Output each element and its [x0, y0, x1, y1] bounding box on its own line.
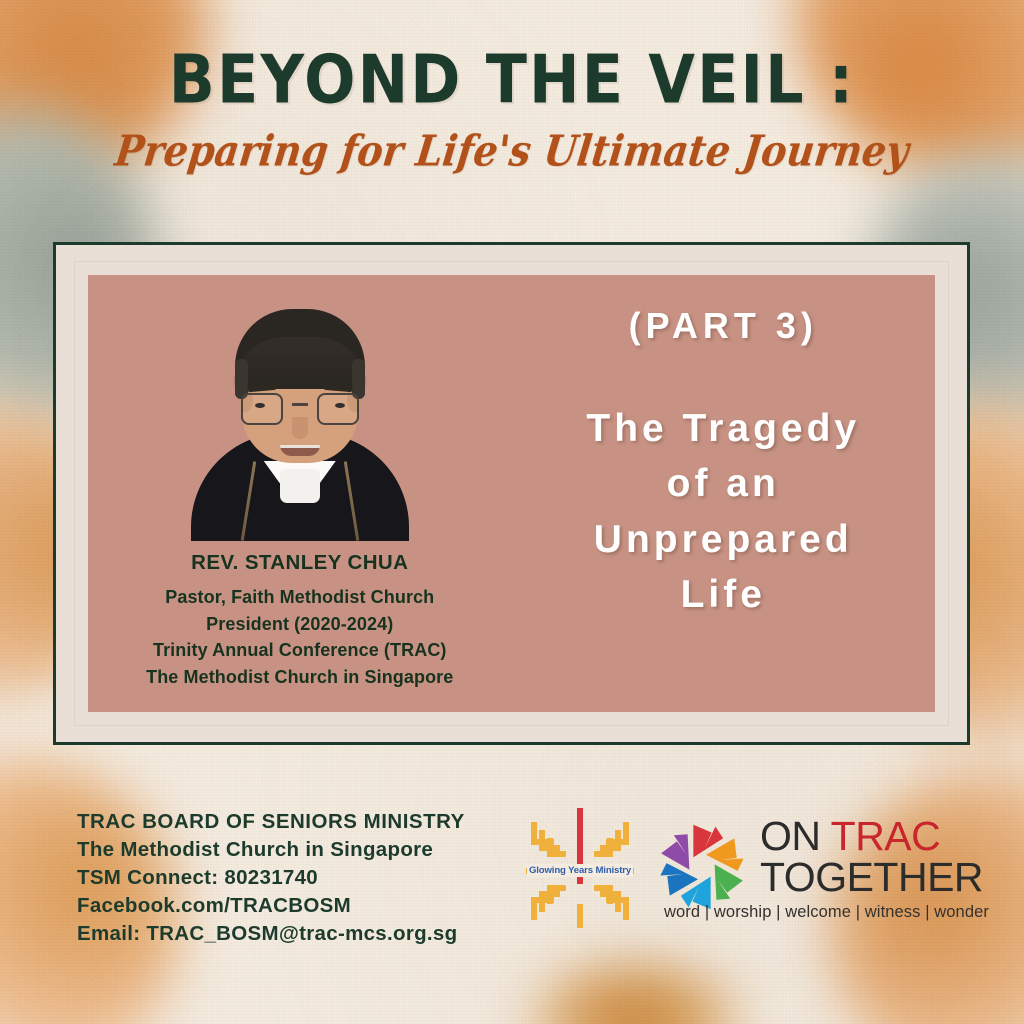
page-title: BEYOND THE VEIL :	[0, 47, 1024, 114]
contact-facebook: Facebook.com/TRACBOSM	[77, 892, 465, 920]
portrait-clerical-collar	[280, 469, 320, 503]
credential-line: The Methodist Church in Singapore	[146, 664, 453, 691]
speaker-block: REV. STANLEY CHUA Pastor, Faith Methodis…	[88, 275, 512, 712]
speaker-credentials: Pastor, Faith Methodist Church President…	[146, 584, 453, 691]
poster-canvas: BEYOND THE VEIL : Preparing for Life's U…	[0, 0, 1024, 1024]
on-trac-wordmark: ON TRAC TOGETHER word | worship | welcom…	[760, 817, 989, 921]
page-subtitle: Preparing for Life's Ultimate Journey	[0, 125, 1024, 175]
logo-row: Glowing Years Ministry	[520, 800, 989, 933]
portrait-mouth	[280, 445, 320, 456]
topic-block: (PART 3) The Tragedy of an Unprepared Li…	[512, 275, 936, 712]
on-word: ON	[760, 813, 831, 859]
portrait-nose	[292, 417, 308, 439]
contact-denomination: The Methodist Church in Singapore	[77, 836, 465, 864]
portrait-eyeglass-bridge	[292, 403, 308, 406]
contact-email: Email: TRAC_BOSM@trac-mcs.org.sg	[77, 920, 465, 948]
contact-organisation: TRAC BOARD OF SENIORS MINISTRY	[77, 808, 465, 836]
session-card: REV. STANLEY CHUA Pastor, Faith Methodis…	[53, 242, 970, 745]
pinwheel-flower-icon	[654, 819, 750, 915]
topic-title: The Tragedy of an Unprepared Life	[586, 401, 860, 623]
glowing-years-label-band: Glowing Years Ministry	[514, 860, 646, 878]
credential-line: Pastor, Faith Methodist Church	[146, 584, 453, 611]
topic-title-line: of an	[586, 456, 860, 511]
on-trac-together-logo: ON TRAC TOGETHER word | worship | welcom…	[654, 817, 989, 921]
trac-word: TRAC	[831, 813, 941, 859]
together-word: TOGETHER	[760, 857, 989, 898]
glowing-years-label: Glowing Years Ministry	[527, 864, 633, 877]
credential-line: Trinity Annual Conference (TRAC)	[146, 637, 453, 664]
series-part-label: (PART 3)	[629, 305, 818, 347]
on-trac-line1: ON TRAC	[760, 817, 989, 856]
portrait-eyeglass-right	[317, 393, 359, 425]
poster-footer: TRAC BOARD OF SENIORS MINISTRY The Metho…	[0, 800, 1024, 970]
topic-title-line: The Tragedy	[586, 401, 860, 456]
portrait-eyeglass-left	[241, 393, 283, 425]
poster-header: BEYOND THE VEIL : Preparing for Life's U…	[0, 52, 1024, 173]
credential-line: President (2020-2024)	[146, 611, 453, 638]
speaker-portrait-photo	[189, 293, 411, 541]
contact-phone: TSM Connect: 80231740	[77, 864, 465, 892]
topic-title-line: Life	[586, 567, 860, 622]
speaker-name: REV. STANLEY CHUA	[191, 551, 408, 575]
topic-title-line: Unprepared	[586, 512, 860, 567]
glowing-years-ministry-logo: Glowing Years Ministry	[520, 808, 640, 933]
on-trac-tagline: word | worship | welcome | witness | won…	[664, 903, 989, 922]
card-inner-panel: REV. STANLEY CHUA Pastor, Faith Methodis…	[88, 275, 935, 712]
contact-block: TRAC BOARD OF SENIORS MINISTRY The Metho…	[77, 808, 465, 947]
